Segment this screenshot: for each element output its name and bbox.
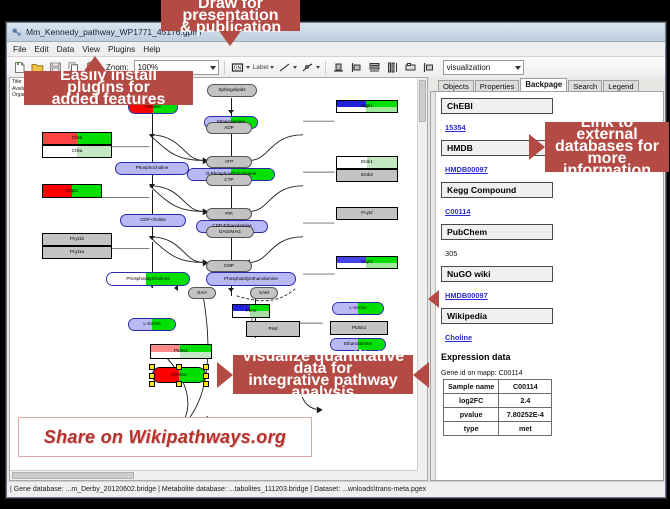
selection-handle[interactable]	[176, 381, 182, 387]
gene-box-pcyt1a[interactable]: Pcyt1a	[42, 246, 112, 259]
node-label: L-Serine	[349, 306, 366, 311]
node-label: SAH	[197, 291, 206, 296]
table-cell-key: type	[444, 422, 499, 436]
selection-handle[interactable]	[203, 381, 209, 387]
gene-label: Pemt	[246, 309, 257, 314]
gene-label: Pcyt1b	[70, 237, 84, 242]
db-link-hmdb[interactable]: HMDB00097	[445, 165, 488, 174]
gene-box-cept1[interactable]: Cept1	[336, 256, 398, 269]
node-label: Sphingolipids	[218, 88, 245, 93]
node-label: DAG/MAG	[219, 230, 241, 235]
gene-box-etnk1[interactable]: Etnk1	[336, 156, 398, 169]
menu-item-edit[interactable]: Edit	[34, 44, 48, 54]
gene-box-chkb[interactable]: Chkb	[42, 132, 112, 145]
db-link-nugo-wiki[interactable]: HMDB00097	[445, 291, 488, 300]
status-bar-text: | Gene database: ...m_Derby_20120602.bri…	[10, 486, 426, 493]
node-label: CDP-choline	[140, 218, 166, 223]
gene-label: Etnk1	[361, 160, 373, 165]
node-label: Phosphatidylcholines	[126, 277, 169, 282]
menu-item-view[interactable]: View	[82, 44, 100, 54]
gene-box-ptdss1[interactable]: Ptdss1	[150, 344, 212, 359]
callout-link-external-databases: Link to external databases for more info…	[545, 122, 669, 172]
canvas-horizontal-scrollbar[interactable]	[10, 470, 418, 480]
callout-arrow-up-icon	[84, 56, 106, 71]
gene-label: Sgpl1	[361, 104, 373, 109]
screenshot-root: Mm_Kennedy_pathway_WP1771_45176.gpml Fil…	[0, 0, 670, 509]
line-icon[interactable]	[277, 60, 292, 75]
callout-arrow-left-icon	[529, 134, 545, 160]
svg-text:GN: GN	[233, 65, 241, 71]
panel-gutter	[431, 92, 436, 480]
table-row: pvalue 7.80252E-4	[444, 408, 552, 422]
group-icon[interactable]	[403, 60, 418, 75]
chevron-down-icon[interactable]	[293, 66, 297, 69]
toolbar-separator	[325, 61, 326, 74]
share-text: Share on Wikipathways.org	[44, 427, 286, 448]
chevron-down-icon[interactable]	[316, 66, 320, 69]
distribute-horizontal-icon[interactable]	[385, 60, 400, 75]
scrollbar-thumb[interactable]	[12, 472, 134, 479]
arrow-down-icon	[228, 110, 234, 114]
menu-item-file[interactable]: File	[13, 44, 26, 54]
side-panel-tabs: Objects Properties Backpage Search Legen…	[430, 77, 664, 91]
db-header-chebi: ChEBI	[441, 98, 553, 114]
chevron-down-icon[interactable]	[270, 66, 274, 69]
gene-box-pemt[interactable]: Pemt	[232, 304, 270, 318]
callout-arrow-right-icon	[413, 362, 429, 388]
gene-box-pcyt1b[interactable]: Pcyt1b	[42, 233, 112, 246]
node-label: L-Serine	[143, 322, 160, 327]
node-sah[interactable]: SAH	[188, 287, 216, 299]
db-header-wikipedia: Wikipedia	[441, 308, 553, 324]
node-ppi[interactable]: PPi	[206, 208, 252, 220]
callout-arrow-left-icon	[217, 362, 233, 388]
node-l-serine-right[interactable]: L-Serine	[332, 302, 384, 315]
gene-label: Cept1	[361, 260, 373, 265]
gene-id-on-mapp: Gene id on mapp: C00114	[441, 370, 655, 377]
node-label: Choline	[171, 373, 187, 378]
node-label: CMP	[224, 264, 234, 269]
align-bottom-icon[interactable]	[331, 60, 346, 75]
table-row: log2FC 2.4	[444, 394, 552, 408]
node-label: ATP	[225, 160, 234, 165]
selection-handle[interactable]	[149, 364, 155, 370]
node-sphingolipids[interactable]: Sphingolipids	[207, 84, 257, 97]
chevron-down-icon	[515, 66, 521, 70]
db-link-wikipedia[interactable]: Choline	[445, 333, 472, 342]
pathvisio-icon	[11, 27, 22, 38]
table-cell-key: Sample name	[444, 380, 499, 394]
table-cell-key: log2FC	[444, 394, 499, 408]
node-phosphatidylcholines[interactable]: Phosphatidylcholines	[106, 272, 190, 286]
label-tool-label: Label	[253, 64, 269, 71]
arrow-down-icon	[228, 288, 234, 292]
callout-arrow-down-icon	[219, 31, 241, 46]
callout-line-1: Visualize quantitative data for	[239, 351, 407, 375]
db-header-kegg-compound: Kegg Compound	[441, 182, 553, 198]
db-header-pubchem: PubChem	[441, 224, 553, 240]
selection-handle[interactable]	[149, 381, 155, 387]
table-cell-value: C00114	[499, 380, 552, 394]
selection-handle[interactable]	[149, 373, 155, 379]
callout-arrow-expression-icon	[428, 290, 439, 308]
node-cmp[interactable]: CMP	[206, 260, 252, 272]
callout-line-3: more information	[551, 153, 663, 177]
status-bar: | Gene database: ...m_Derby_20120602.bri…	[7, 481, 665, 497]
table-cell-value: met	[499, 422, 552, 436]
node-cdp-choline[interactable]: CDP-choline	[120, 214, 186, 227]
gene-label: Chka	[72, 149, 83, 154]
node-phosphocholine[interactable]: Phosphocholine	[115, 162, 189, 175]
db-value-pubchem: 305	[445, 249, 457, 258]
node-sam[interactable]: SAM	[250, 287, 278, 299]
order-icon[interactable]	[421, 60, 436, 75]
gene-box-chka[interactable]: Chka	[42, 145, 112, 158]
table-cell-key: pvalue	[444, 408, 499, 422]
selection-handle[interactable]	[176, 364, 182, 370]
gene-label: Ptdss2	[352, 326, 366, 331]
callout-share-wikipathways: Share on Wikipathways.org	[18, 417, 312, 457]
node-label: Phosphocholine	[136, 166, 169, 171]
table-row: Sample name C00114	[444, 380, 552, 394]
chevron-down-icon[interactable]	[246, 66, 250, 69]
gene-box-ptdss2[interactable]: Ptdss2	[330, 321, 388, 335]
callout-line-2: added features	[30, 94, 187, 106]
table-cell-value: 2.4	[499, 394, 552, 408]
anchor-line-icon[interactable]	[300, 60, 315, 75]
align-left-icon[interactable]	[349, 60, 364, 75]
menu-item-help[interactable]: Help	[143, 44, 160, 54]
gene-label: Pcyt2	[361, 211, 373, 216]
tab-backpage[interactable]: Backpage	[520, 78, 567, 91]
node-phosphatidylethanolamine[interactable]: Phosphatidylethanolamine	[206, 272, 296, 286]
node-label: ADP	[224, 126, 233, 131]
gene-label: Chkb	[72, 136, 83, 141]
node-l-serine-left[interactable]: L-Serine	[128, 318, 176, 331]
callout-line-2: integrative pathway analysis	[239, 375, 407, 399]
gene-label: Pcyt1a	[70, 250, 84, 255]
selection-handle[interactable]	[203, 373, 209, 379]
chevron-down-icon	[210, 66, 216, 70]
scrollbar-thumb[interactable]	[419, 80, 426, 122]
tab-objects[interactable]: Objects	[438, 80, 474, 91]
callout-visualize-quantitative-data: Visualize quantitative data for integrat…	[233, 355, 413, 394]
edge-choline-down	[152, 114, 153, 136]
label-tool[interactable]: Label	[253, 64, 274, 71]
datanode-icon[interactable]: GN	[230, 60, 245, 75]
table-cell-value: 7.80252E-4	[499, 408, 552, 422]
tab-properties[interactable]: Properties	[475, 80, 520, 91]
window-titlebar: Mm_Kennedy_pathway_WP1771_45176.gpml	[7, 23, 665, 42]
menu-item-plugins[interactable]: Plugins	[108, 44, 135, 54]
datanode-tool[interactable]: GN	[230, 60, 250, 75]
toolbar-separator	[224, 61, 225, 74]
node-label: SAM	[259, 291, 269, 296]
expression-data-heading: Expression data	[441, 352, 655, 362]
node-label: Ethanolamine	[344, 342, 372, 347]
gene-label: Ptdss1	[174, 349, 188, 354]
gene-box-pisd[interactable]: Pisd	[246, 321, 300, 337]
callout-easily-install-plugins: Easily install plugins for added feature…	[24, 71, 193, 105]
expression-table: Sample name C00114 log2FC 2.4 pvalue 7.8…	[443, 379, 552, 436]
gene-box-pcyt2[interactable]: Pcyt2	[336, 207, 398, 220]
selection-handle[interactable]	[203, 364, 209, 370]
db-link-kegg-compound[interactable]: C00114	[445, 207, 470, 216]
db-link-chebi[interactable]: 15354	[445, 123, 466, 132]
db-header-nugo-wiki: NuGO wiki	[441, 266, 553, 282]
table-row: type met	[444, 422, 552, 436]
gene-box-chpt1[interactable]: Chpt1	[42, 184, 102, 198]
anchor-line-tool[interactable]	[300, 60, 320, 75]
line-tool[interactable]	[277, 60, 297, 75]
gene-label: Chpt1	[66, 189, 78, 194]
tab-search[interactable]: Search	[568, 80, 602, 91]
gene-box-etnk2[interactable]: Etnk2	[336, 169, 398, 182]
visualization-value: visualization	[447, 63, 491, 72]
menu-item-data[interactable]: Data	[57, 44, 75, 54]
gene-label: Etnk2	[361, 173, 373, 178]
canvas-vertical-scrollbar[interactable]	[417, 78, 427, 480]
node-label: Phosphatidylethanolamine	[224, 277, 278, 282]
visualization-combo[interactable]: visualization	[443, 60, 524, 75]
node-label: CTP	[224, 178, 233, 183]
gene-label: Pisd	[269, 327, 278, 332]
gene-box-sgpl1[interactable]: Sgpl1	[336, 100, 398, 113]
callout-draw-for-publication: Draw for presentation & publication	[161, 0, 300, 31]
distribute-vertical-icon[interactable]	[367, 60, 382, 75]
node-label: PPi	[225, 212, 232, 217]
menu-bar: File Edit Data View Plugins Help	[7, 42, 665, 57]
node-atp[interactable]: ATP	[206, 156, 252, 168]
tab-legend[interactable]: Legend	[603, 80, 638, 91]
